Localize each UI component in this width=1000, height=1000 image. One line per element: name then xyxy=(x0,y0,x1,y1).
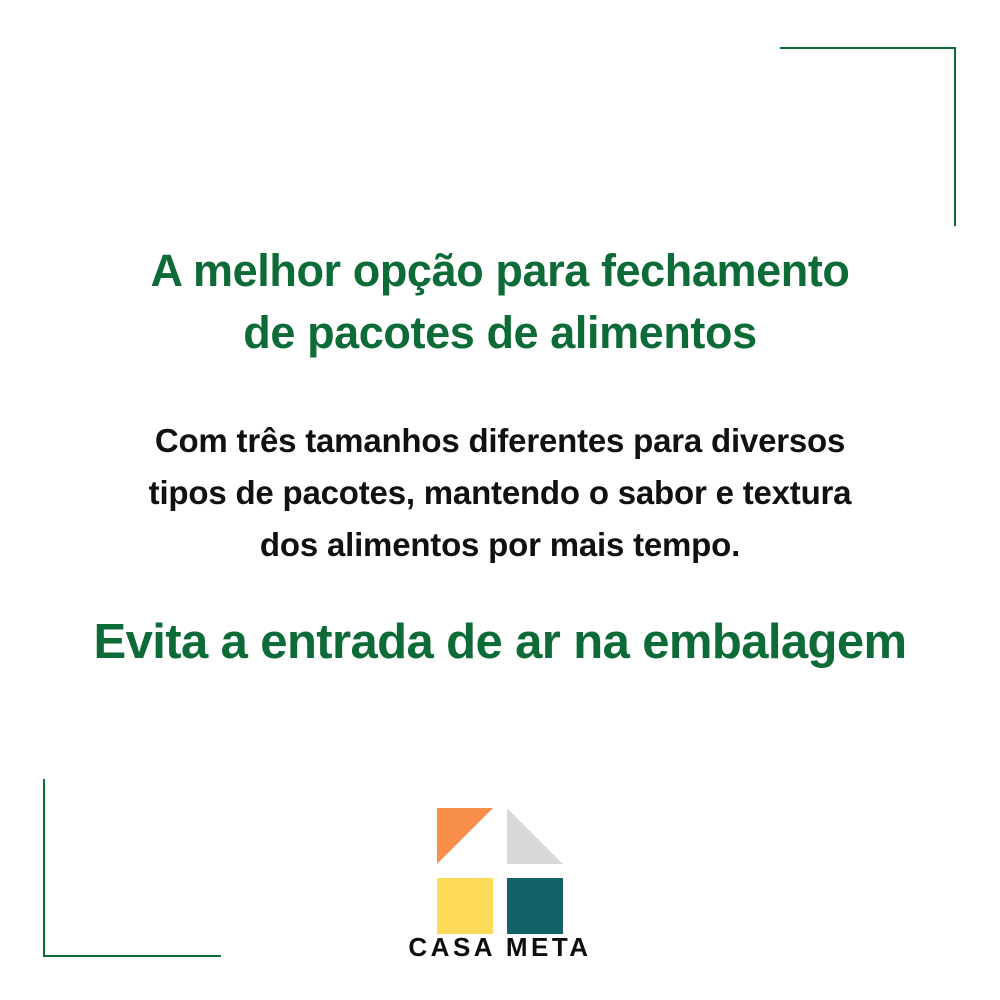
poster-canvas: A melhor opção para fechamento de pacote… xyxy=(0,0,1000,1000)
subheadline-line-1: Evita a entrada de ar na embalagem xyxy=(0,610,1000,674)
teal-square-icon xyxy=(507,878,563,934)
headline-line-1: A melhor opção para fechamento xyxy=(0,240,1000,302)
headline-line-2: de pacotes de alimentos xyxy=(0,302,1000,364)
gray-triangle-icon xyxy=(507,808,563,864)
logo-wordmark: CASA META xyxy=(397,932,603,963)
body-copy-line-1: Com três tamanhos diferentes para divers… xyxy=(0,415,1000,467)
yellow-square-icon xyxy=(437,878,493,934)
body-copy-line-3: dos alimentos por mais tempo. xyxy=(0,519,1000,571)
corner-bracket-top-right-horizontal xyxy=(780,47,956,49)
corner-bracket-bottom-left-vertical xyxy=(43,779,45,957)
headline: A melhor opção para fechamento de pacote… xyxy=(0,240,1000,364)
body-copy-line-2: tipos de pacotes, mantendo o sabor e tex… xyxy=(0,467,1000,519)
subheadline: Evita a entrada de ar na embalagem xyxy=(0,610,1000,674)
body-copy: Com três tamanhos diferentes para divers… xyxy=(0,415,1000,571)
corner-bracket-top-right-vertical xyxy=(954,47,956,226)
logo: CASA META xyxy=(437,808,563,963)
corner-bracket-bottom-left-horizontal xyxy=(43,955,221,957)
orange-triangle-icon xyxy=(437,808,493,864)
logo-mark xyxy=(437,808,563,926)
